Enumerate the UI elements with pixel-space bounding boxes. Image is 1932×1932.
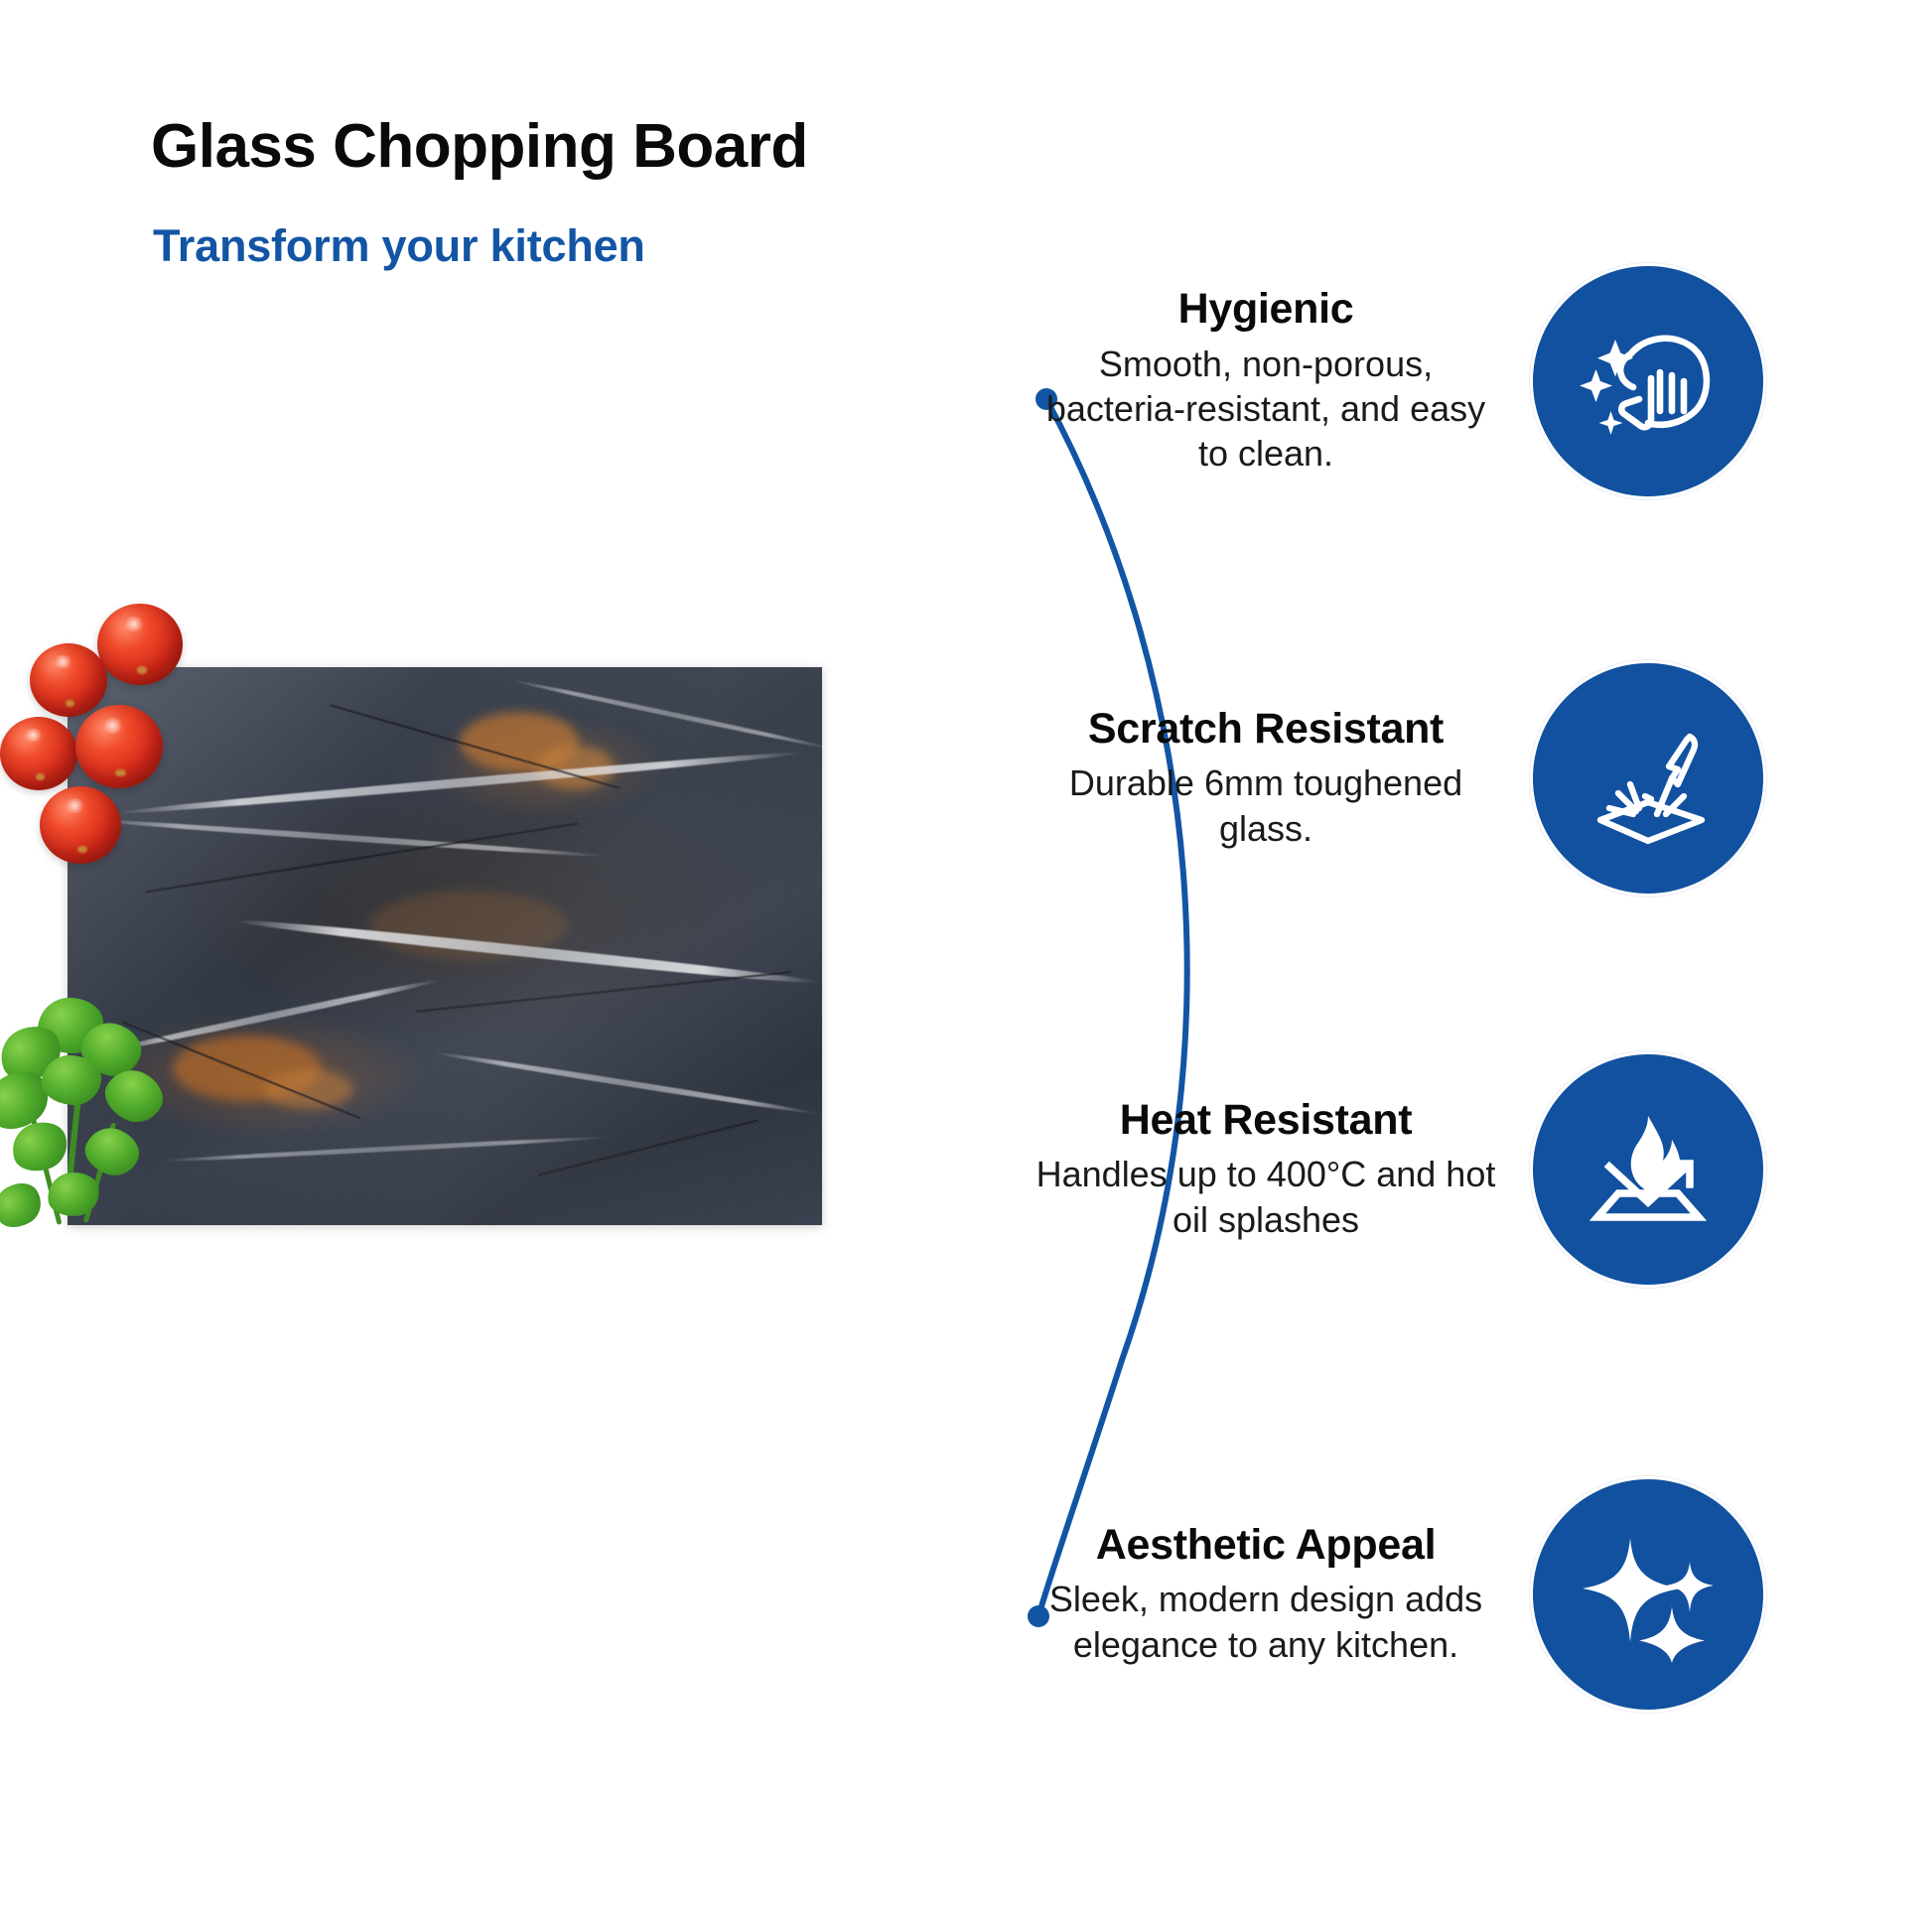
feature-title: Aesthetic Appeal [1033,1522,1499,1569]
feature-icon-badge [1533,266,1763,496]
tomato-stem-nub [36,773,45,780]
knife-scratch-icon [1574,704,1723,853]
cherry-tomato [30,643,107,717]
feature-body: Handles up to 400°C and hot oil splashes [1033,1152,1499,1242]
callout-curve [1003,357,1301,1668]
feature-aesthetic-appeal: Aesthetic Appeal Sleek, modern design ad… [1033,1479,1763,1710]
feature-text: Scratch Resistant Durable 6mm toughened … [1033,706,1499,851]
cherry-tomato [0,717,77,790]
page-title: Glass Chopping Board [151,111,808,182]
feature-text: Heat Resistant Handles up to 400°C and h… [1033,1097,1499,1242]
feature-body: Durable 6mm toughened glass. [1033,760,1499,851]
sparkles-icon [1574,1520,1723,1669]
cherry-tomato [97,604,183,685]
feature-scratch-resistant: Scratch Resistant Durable 6mm toughened … [1033,663,1763,894]
tomato-stem-nub [115,769,126,777]
parsley-leaf [78,1121,145,1183]
tomato-stem-nub [66,700,74,707]
feature-hygienic: Hygienic Smooth, non-porous, bacteria-re… [1033,266,1763,496]
wiping-hand-sparkle-icon [1574,307,1723,456]
infographic-canvas: Glass Chopping Board Transform your kitc… [0,0,1932,1932]
parsley-sprig [0,998,214,1251]
tomato-stem-nub [137,666,147,673]
tomato-stem-nub [77,846,87,853]
product-image [0,596,854,1261]
feature-text: Hygienic Smooth, non-porous, bacteria-re… [1033,286,1499,476]
feature-heat-resistant: Heat Resistant Handles up to 400°C and h… [1033,1054,1763,1285]
cherry-tomato [40,786,121,864]
feature-title: Hygienic [1033,286,1499,333]
feature-text: Aesthetic Appeal Sleek, modern design ad… [1033,1522,1499,1667]
feature-icon-badge [1533,663,1763,894]
feature-icon-badge [1533,1479,1763,1710]
callout-curve-path [1038,399,1187,1616]
cherry-tomato [75,705,163,788]
feature-title: Heat Resistant [1033,1097,1499,1144]
flame-deflect-icon [1574,1095,1723,1244]
feature-icon-badge [1533,1054,1763,1285]
feature-title: Scratch Resistant [1033,706,1499,753]
feature-body: Smooth, non-porous, bacteria-resistant, … [1033,342,1499,477]
feature-body: Sleek, modern design adds elegance to an… [1033,1577,1499,1667]
parsley-leaf [0,1175,49,1235]
page-subtitle: Transform your kitchen [153,220,645,272]
